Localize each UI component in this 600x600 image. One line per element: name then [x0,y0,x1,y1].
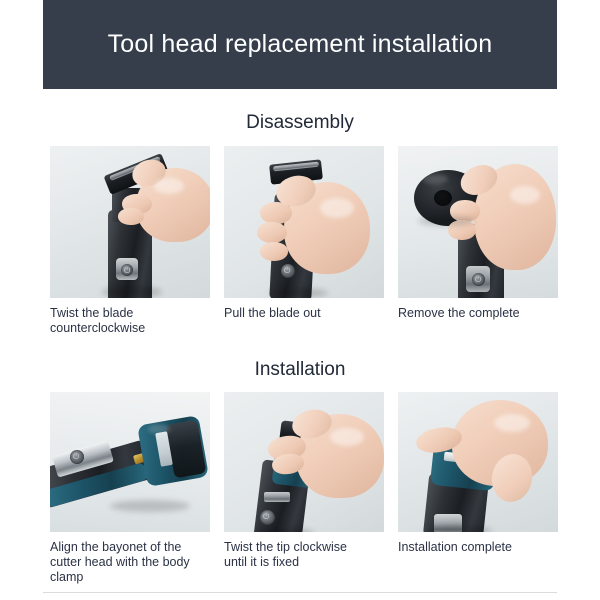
section-heading-disassembly: Disassembly [0,112,600,134]
twist-blade-counterclockwise-photo: ⏻ [50,146,210,298]
section-heading-installation: Installation [0,359,600,381]
remove-the-complete-photo: ⏻ [398,146,558,298]
step-card-align-bayonet: ⏻ Align the bayonet of the cutter head w… [50,392,210,585]
step-card-twist-tip: ⏻ Twist the tip clockwise until it is fi… [224,392,384,585]
step-card-twist-blade: ⏻ Twist the blade counterclockwise [50,146,210,336]
instruction-sheet: Tool head replacement installation Disas… [0,0,600,600]
step-card-remove-complete: ⏻ Remove the complete [398,146,558,336]
page-title: Tool head replacement installation [108,30,493,59]
installation-step-row: ⏻ Align the bayonet of the cutter head w… [50,392,558,585]
step-caption: Twist the tip clockwise until it is fixe… [224,540,384,570]
step-caption: Twist the blade counterclockwise [50,306,210,336]
step-card-installation-complete: Installation complete [398,392,558,585]
step-card-pull-blade: ⏻ Pull the blade out [224,146,384,336]
installation-complete-photo [398,392,558,532]
step-caption: Installation complete [398,540,558,555]
pull-blade-out-photo: ⏻ [224,146,384,298]
align-bayonet-photo: ⏻ [50,392,210,532]
header-banner: Tool head replacement installation [43,0,557,89]
twist-tip-clockwise-photo: ⏻ [224,392,384,532]
step-caption: Remove the complete [398,306,558,321]
step-caption: Align the bayonet of the cutter head wit… [50,540,210,585]
bottom-divider [43,592,557,593]
disassembly-step-row: ⏻ Twist the blade counterclockwise [50,146,558,336]
step-caption: Pull the blade out [224,306,384,321]
